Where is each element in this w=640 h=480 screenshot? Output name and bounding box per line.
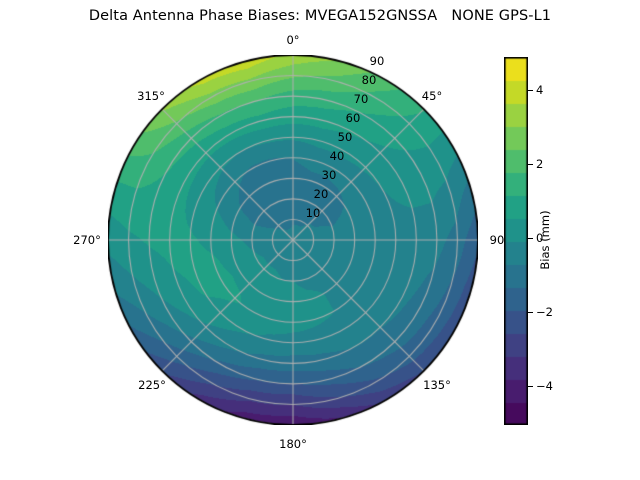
colorbar-tick-mark xyxy=(528,90,533,91)
colorbar-tick-label: 0 xyxy=(536,231,543,245)
radial-tick-80: 80 xyxy=(362,73,377,87)
polar-plot xyxy=(108,55,478,425)
colorbar-tick-label: 2 xyxy=(536,157,543,171)
theta-tick-180: 180° xyxy=(279,437,307,451)
polar-contour-canvas xyxy=(108,55,478,425)
colorbar-tick-mark xyxy=(528,386,533,387)
theta-tick-0: 0° xyxy=(286,33,299,47)
colorbar-tick-mark xyxy=(528,312,533,313)
radial-tick-50: 50 xyxy=(338,130,353,144)
radial-tick-90: 90 xyxy=(370,54,385,68)
theta-tick-135: 135° xyxy=(423,378,451,392)
radial-tick-30: 30 xyxy=(322,168,337,182)
page-title: Delta Antenna Phase Biases: MVEGA152GNSS… xyxy=(0,8,640,24)
theta-tick-90: 90 xyxy=(490,233,505,247)
colorbar-tick-label: 4 xyxy=(536,83,543,97)
radial-tick-40: 40 xyxy=(330,149,345,163)
colorbar-tick-label: −4 xyxy=(536,379,553,393)
theta-tick-225: 225° xyxy=(138,378,166,392)
radial-tick-10: 10 xyxy=(306,206,321,220)
theta-tick-315: 315° xyxy=(137,89,165,103)
colorbar xyxy=(504,57,528,425)
radial-tick-70: 70 xyxy=(354,92,369,106)
colorbar-tick-mark xyxy=(528,164,533,165)
radial-tick-60: 60 xyxy=(346,111,361,125)
chart-root: Delta Antenna Phase Biases: MVEGA152GNSS… xyxy=(0,0,640,480)
colorbar-tick-label: −2 xyxy=(536,305,553,319)
colorbar-tick-mark xyxy=(528,238,533,239)
theta-tick-45: 45° xyxy=(422,89,442,103)
radial-tick-20: 20 xyxy=(314,187,329,201)
theta-tick-270: 270° xyxy=(73,233,101,247)
colorbar-gradient xyxy=(504,57,528,425)
